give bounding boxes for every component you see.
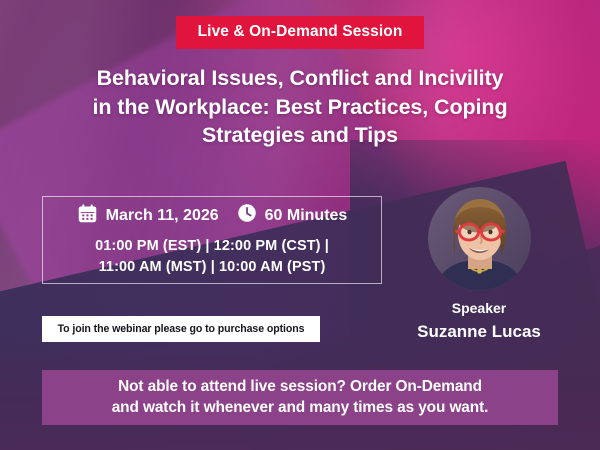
- calendar-icon: [77, 203, 98, 229]
- page-title-line-3: Strategies and Tips: [34, 121, 566, 150]
- speaker-role-label: Speaker: [398, 300, 560, 316]
- purchase-options-note-label: To join the webinar please go to purchas…: [58, 323, 305, 335]
- banner-content: Live & On-Demand Session Behavioral Issu…: [0, 0, 600, 450]
- clock-icon: [237, 203, 257, 228]
- on-demand-callout: Not able to attend live session? Order O…: [42, 370, 558, 425]
- session-duration: 60 Minutes: [237, 203, 348, 228]
- session-timezones-line-1: 01:00 PM (EST) | 12:00 PM (CST) |: [95, 236, 329, 257]
- session-date: March 11, 2026: [77, 203, 219, 229]
- on-demand-callout-line-1: Not able to attend live session? Order O…: [118, 377, 482, 398]
- session-date-label: March 11, 2026: [106, 207, 219, 225]
- page-title: Behavioral Issues, Conflict and Incivili…: [34, 64, 566, 150]
- page-title-line-1: Behavioral Issues, Conflict and Incivili…: [34, 64, 566, 93]
- session-details-box: March 11, 2026 60 Minutes 01:00 PM (EST)…: [42, 196, 382, 284]
- purchase-options-note[interactable]: To join the webinar please go to purchas…: [42, 316, 320, 342]
- badge-container: Live & On-Demand Session: [0, 16, 600, 49]
- speaker-photo: [428, 187, 531, 290]
- on-demand-callout-line-2: and watch it whenever and many times as …: [112, 398, 489, 419]
- speaker-name: Suzanne Lucas: [388, 322, 570, 342]
- session-duration-label: 60 Minutes: [265, 207, 348, 225]
- session-timezones-line-2: 11:00 AM (MST) | 10:00 AM (PST): [95, 257, 329, 278]
- session-type-badge: Live & On-Demand Session: [176, 16, 425, 49]
- session-timezones: 01:00 PM (EST) | 12:00 PM (CST) | 11:00 …: [95, 236, 329, 277]
- page-title-line-2: in the Workplace: Best Practices, Coping: [34, 93, 566, 122]
- session-date-time-row: March 11, 2026 60 Minutes: [77, 203, 348, 229]
- webinar-promo-banner: Live & On-Demand Session Behavioral Issu…: [0, 0, 600, 450]
